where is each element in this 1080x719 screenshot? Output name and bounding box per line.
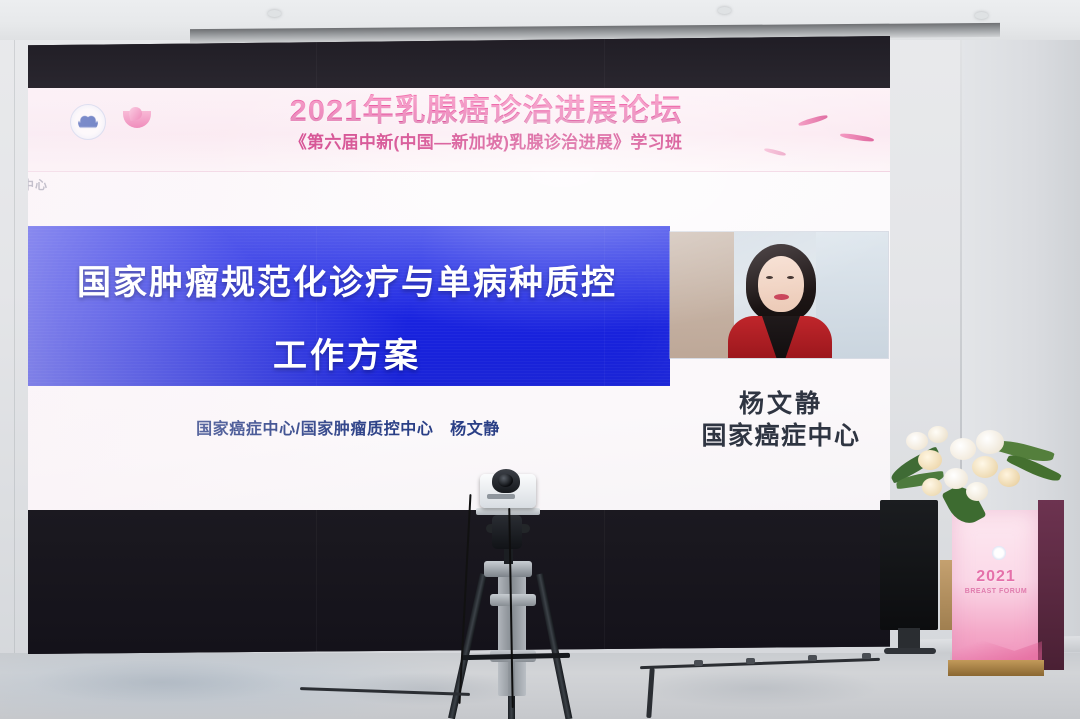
ceiling-light-fixture [975, 12, 988, 19]
decorative-brush-stroke [840, 132, 874, 142]
ceiling-light-fixture [718, 7, 731, 14]
blue-medical-emblem-logo [70, 104, 106, 140]
cable-clip [808, 655, 817, 661]
podium-year-text: 2021 [966, 568, 1026, 586]
tripod-head [492, 515, 522, 549]
podium-subtext: BREAST FORUM [962, 588, 1030, 595]
tripod-leg-left [448, 573, 487, 719]
pink-lotus-emblem-logo [120, 105, 154, 139]
podium-base [948, 660, 1044, 676]
speaker-eye-right [787, 276, 794, 279]
cream-flower [918, 450, 942, 470]
speaker-eye-left [766, 276, 773, 279]
cream-flower [998, 468, 1020, 487]
monitor-foot [884, 648, 936, 654]
floor-smudge [30, 660, 290, 704]
white-flower [928, 426, 948, 443]
floral-arrangement [888, 424, 1064, 530]
white-flower [944, 468, 968, 489]
white-flower [950, 438, 976, 460]
decorative-brush-stroke [798, 114, 828, 127]
podium-logo [992, 546, 1006, 560]
ceiling-light-fixture [268, 10, 281, 17]
speaker-name: 杨文静 [668, 388, 890, 420]
forum-subtitle: 《第六届中新(中国—新加坡)乳腺诊治进展》学习班 [246, 128, 726, 153]
white-flower [966, 482, 988, 501]
cable-clip [862, 653, 871, 659]
slide-corner-label: 中心 [28, 176, 48, 193]
presentation-slide: 2021年乳腺癌诊治进展论坛 《第六届中新(中国—新加坡)乳腺诊治进展》学习班 … [28, 88, 890, 513]
wall-panel-seam [14, 40, 15, 719]
camera-front-vent [487, 494, 515, 499]
cable-clip [746, 658, 755, 664]
speaker-podium: 2021 BREAST FORUM [952, 510, 1064, 680]
slide-title-line-2: 工作方案 [28, 328, 670, 377]
header-title-group: 2021年乳腺癌诊治进展论坛 《第六届中新(中国—新加坡)乳腺诊治进展》学习班 [246, 94, 726, 153]
white-flower [906, 432, 928, 450]
speaker-video-feed [670, 232, 888, 358]
slide-attribution: 国家癌症中心/国家肿瘤质控中心 杨文静 [88, 415, 608, 439]
slide-title-line-1: 国家肿瘤规范化诊疗与单病种质控 [28, 255, 670, 304]
white-flower [976, 430, 1004, 454]
conference-room-photo: 2021年乳腺癌诊治进展论坛 《第六届中新(中国—新加坡)乳腺诊治进展》学习班 … [0, 0, 1080, 719]
cream-flower [972, 456, 998, 478]
speaker-face [758, 256, 804, 312]
tripod-leg-right [536, 573, 572, 719]
header-divider [28, 171, 890, 172]
tripod-brace [490, 594, 536, 606]
slide-header-band: 2021年乳腺癌诊治进展论坛 《第六届中新(中国—新加坡)乳腺诊治进展》学习班 [28, 88, 890, 172]
slide-title-block: 国家肿瘤规范化诊疗与单病种质控 工作方案 [28, 226, 670, 386]
speaker-lips [774, 294, 789, 300]
cream-flower [922, 478, 942, 496]
monitor-stand [898, 628, 920, 650]
header-logos [70, 104, 154, 140]
led-wall-top-bezel [28, 36, 890, 96]
forum-title: 2021年乳腺癌诊治进展论坛 [246, 94, 726, 127]
camera-lens-glass [498, 474, 513, 487]
floor-smudge [640, 668, 880, 708]
decorative-brush-stroke [764, 147, 786, 156]
camera-tripod [440, 468, 590, 719]
speaker-caption: 杨文静 国家癌症中心 [668, 388, 890, 452]
speaker-organization: 国家癌症中心 [668, 420, 890, 452]
cable-clip [694, 660, 703, 666]
video-background-left [670, 232, 734, 358]
